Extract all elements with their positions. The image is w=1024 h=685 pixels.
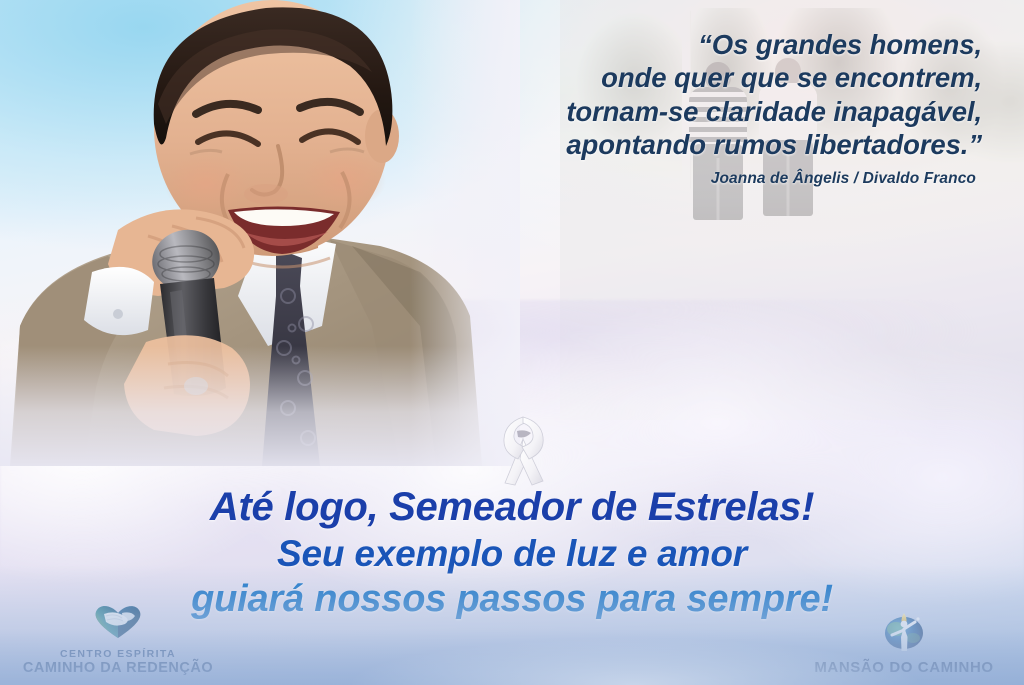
memorial-poster: “Os grandes homens, onde quer que se enc… — [0, 0, 1024, 685]
quote-text: “Os grandes homens, onde quer que se enc… — [422, 28, 982, 162]
logo-mansao-do-caminho[interactable]: MANSÃO DO CAMINHO — [792, 609, 1016, 677]
headline-line-2: Seu exemplo de luz e amor — [0, 535, 1024, 580]
white-mourning-ribbon-icon — [487, 409, 559, 487]
memorial-headline: Até logo, Semeador de Estrelas! Seu exem… — [0, 487, 1024, 618]
quote-line-3: tornam-se claridade inapagável, — [422, 95, 982, 128]
photo-ground — [560, 226, 1024, 420]
logo-left-line1: CENTRO ESPÍRITA — [6, 648, 230, 660]
heart-hands-icon — [6, 602, 230, 645]
logo-centro-espirita[interactable]: CENTRO ESPÍRITA CAMINHO DA REDENÇÃO — [6, 602, 230, 677]
quote-line-1: “Os grandes homens, — [422, 28, 982, 61]
quote-line-4: apontando rumos libertadores.” — [422, 128, 982, 161]
quote-line-2: onde quer que se encontrem, — [422, 61, 982, 94]
globe-figure-flame-icon — [792, 609, 1016, 656]
headline-line-1: Até logo, Semeador de Estrelas! — [0, 487, 1024, 535]
logo-left-line2: CAMINHO DA REDENÇÃO — [6, 660, 230, 677]
quote-author: Joanna de Ângelis / Divaldo Franco — [416, 170, 976, 188]
logo-right-line2: MANSÃO DO CAMINHO — [792, 659, 1016, 677]
